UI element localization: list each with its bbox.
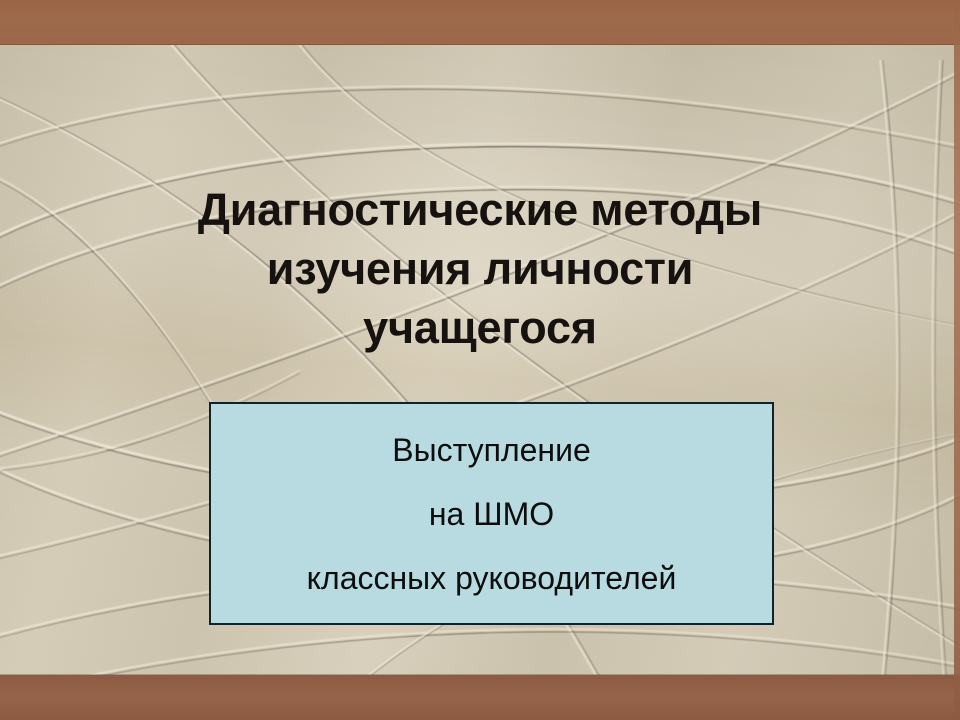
right-brown-strip xyxy=(954,0,960,720)
top-band-edge-line xyxy=(0,44,960,45)
subtitle-line-2: на ШМО xyxy=(211,497,772,531)
presentation-slide: Диагностические методы изучения личности… xyxy=(0,0,960,720)
slide-title-line-1: Диагностические методы xyxy=(80,180,880,239)
subtitle-line-3: классных руководителей xyxy=(211,561,772,595)
bottom-band-edge-line xyxy=(0,674,960,675)
subtitle-text-box: Выступление на ШМО классных руководителе… xyxy=(209,402,774,625)
bottom-brown-band xyxy=(0,675,960,720)
slide-title: Диагностические методы изучения личности… xyxy=(80,180,880,357)
slide-title-line-3: учащегося xyxy=(80,298,880,357)
slide-title-line-2: изучения личности xyxy=(80,239,880,298)
subtitle-line-1: Выступление xyxy=(211,433,772,467)
top-brown-band xyxy=(0,0,960,45)
